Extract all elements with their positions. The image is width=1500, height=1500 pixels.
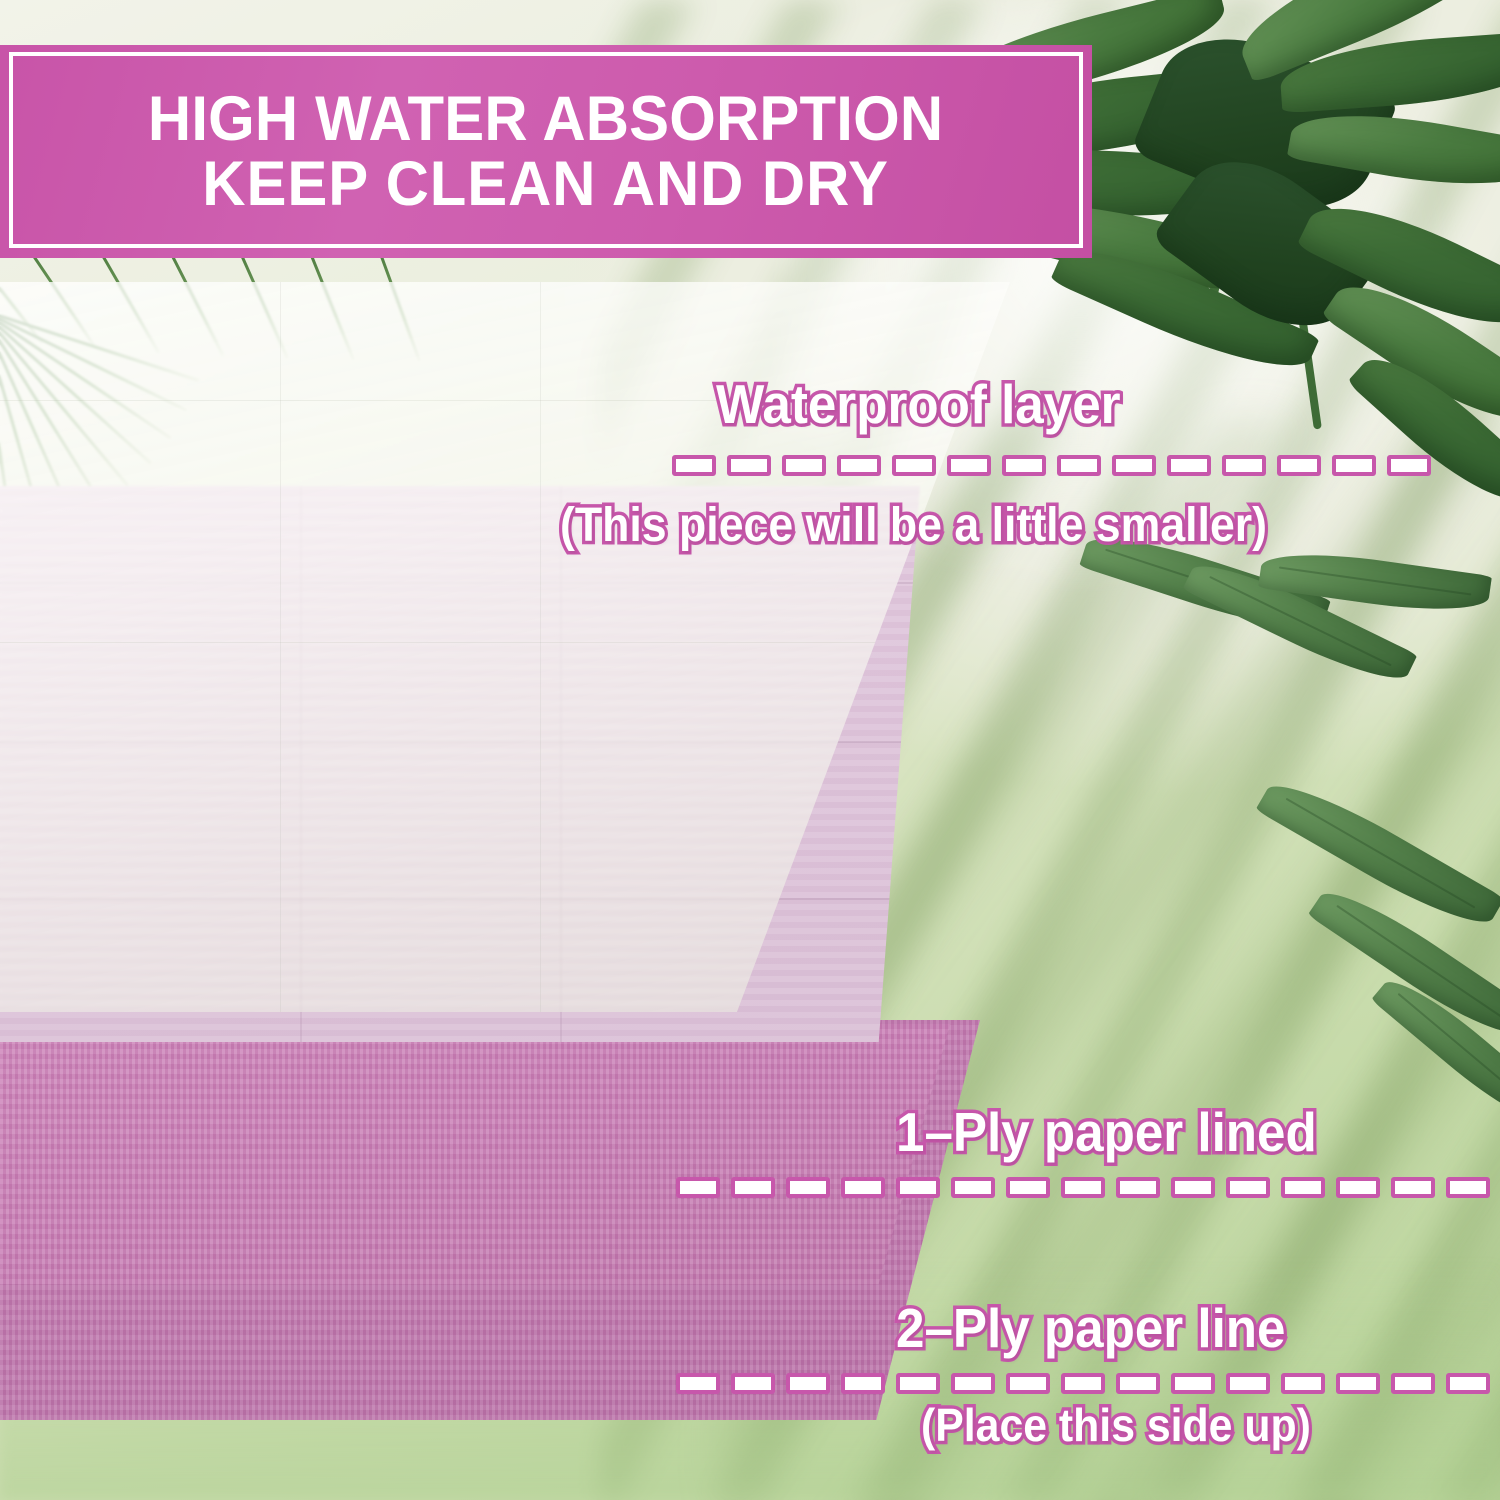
two-ply-label: 2–Ply paper line	[896, 1296, 1285, 1360]
callout-two-ply: 2–Ply paper line	[896, 1296, 1315, 1360]
dashed-rule-waterproof	[672, 455, 1431, 476]
callout-waterproof-note: (This piece will be a little smaller)	[560, 498, 1320, 553]
dashed-rule-one-ply	[676, 1177, 1500, 1198]
place-side-up-label: (Place this side up)	[921, 1398, 1311, 1452]
banner-line-1: HIGH WATER ABSORPTION	[148, 87, 943, 152]
product-infographic: HIGH WATER ABSORPTION KEEP CLEAN AND DRY…	[0, 0, 1500, 1500]
palm-leaves-right	[1060, 560, 1500, 1320]
waterproof-layer-label: Waterproof layer	[716, 372, 1121, 436]
dashed-rule-two-ply	[676, 1373, 1500, 1394]
one-ply-paper-layer	[0, 1024, 950, 1284]
banner-line-2: KEEP CLEAN AND DRY	[148, 152, 943, 217]
one-ply-label: 1–Ply paper lined	[896, 1100, 1317, 1164]
callout-waterproof-layer: Waterproof layer	[716, 372, 1151, 436]
header-banner: HIGH WATER ABSORPTION KEEP CLEAN AND DRY	[0, 45, 1092, 258]
waterproof-note-label: (This piece will be a little smaller)	[560, 498, 1267, 553]
callout-place-side-up: (Place this side up)	[921, 1398, 1340, 1452]
callout-one-ply: 1–Ply paper lined	[896, 1100, 1348, 1164]
banner-text: HIGH WATER ABSORPTION KEEP CLEAN AND DRY	[148, 87, 943, 217]
